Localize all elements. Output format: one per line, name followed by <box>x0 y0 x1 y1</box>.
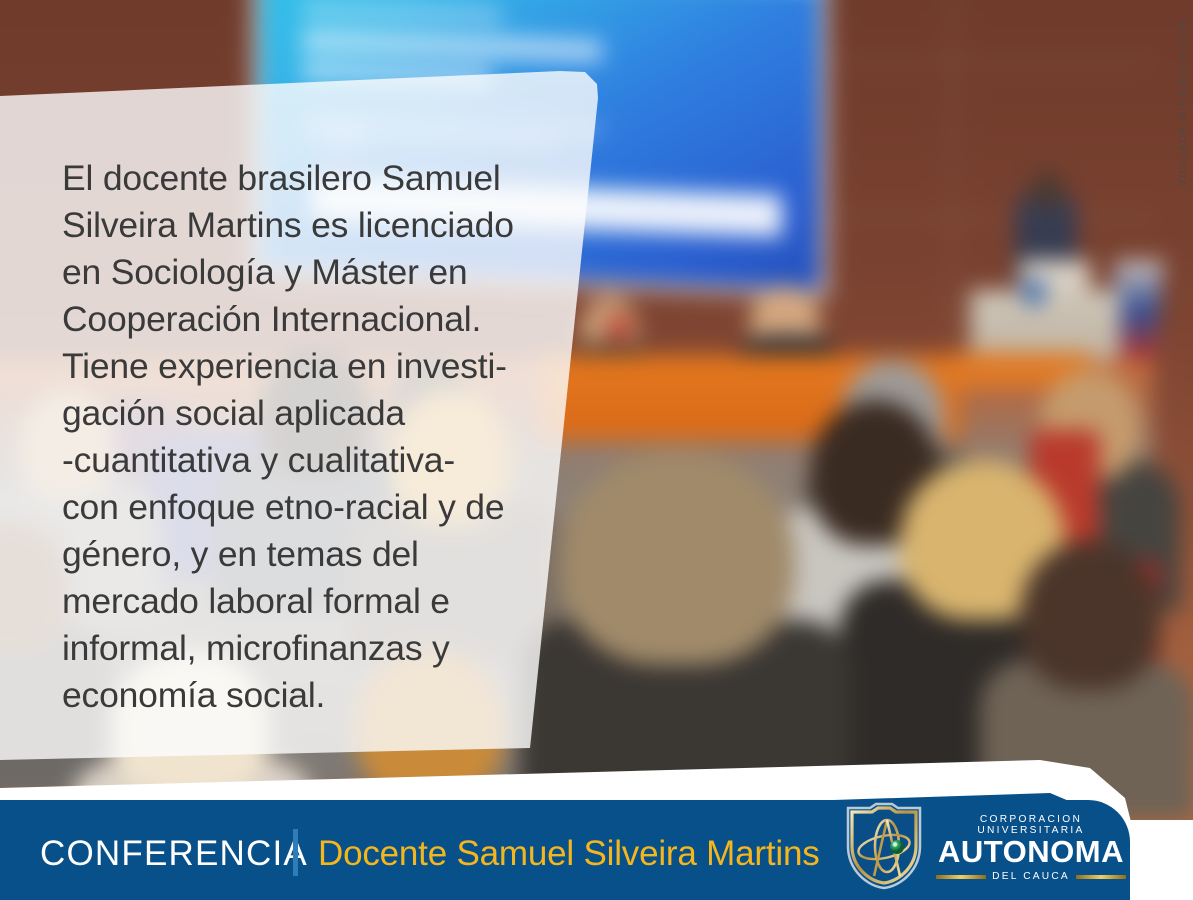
poster-canvas: VIGILADA MINEDUCACIÓN El docente brasile… <box>0 0 1193 900</box>
wall-seam <box>950 0 955 380</box>
audience-member <box>1020 540 1160 690</box>
university-logo: CORPORACION UNIVERSITARIA AUTONOMA DEL C… <box>840 800 1120 890</box>
logo-line-main: AUTONOMA <box>936 836 1126 868</box>
speaker-head <box>1030 172 1064 210</box>
gold-bar-right <box>1076 875 1126 879</box>
logo-line-top: CORPORACION UNIVERSITARIA <box>936 814 1126 836</box>
atom-shield-icon <box>840 802 928 890</box>
vigilada-mineducacion-label: VIGILADA MINEDUCACIÓN <box>1177 18 1189 187</box>
logo-wordmark: CORPORACION UNIVERSITARIA AUTONOMA DEL C… <box>936 814 1126 882</box>
gold-bar-left <box>936 875 986 879</box>
speaker-name-label: Docente Samuel Silveira Martins <box>318 834 820 874</box>
speaker-bio-paragraph: El docente brasilero Samuel Silveira Mar… <box>62 155 532 719</box>
microphone <box>1022 278 1046 306</box>
audience-member-foreground <box>560 450 795 665</box>
panelist-accent <box>608 315 630 341</box>
screen-text-line <box>302 1 502 24</box>
logo-line-bottom-wrap: DEL CAUCA <box>936 871 1126 882</box>
logo-line-bottom: DEL CAUCA <box>992 871 1070 882</box>
footer-blue-bar: CONFERENCIA Docente Samuel Silveira Mart… <box>0 800 1130 900</box>
event-type-label: CONFERENCIA <box>40 834 308 874</box>
footer-divider <box>293 829 298 876</box>
screen-text-line <box>302 29 602 63</box>
